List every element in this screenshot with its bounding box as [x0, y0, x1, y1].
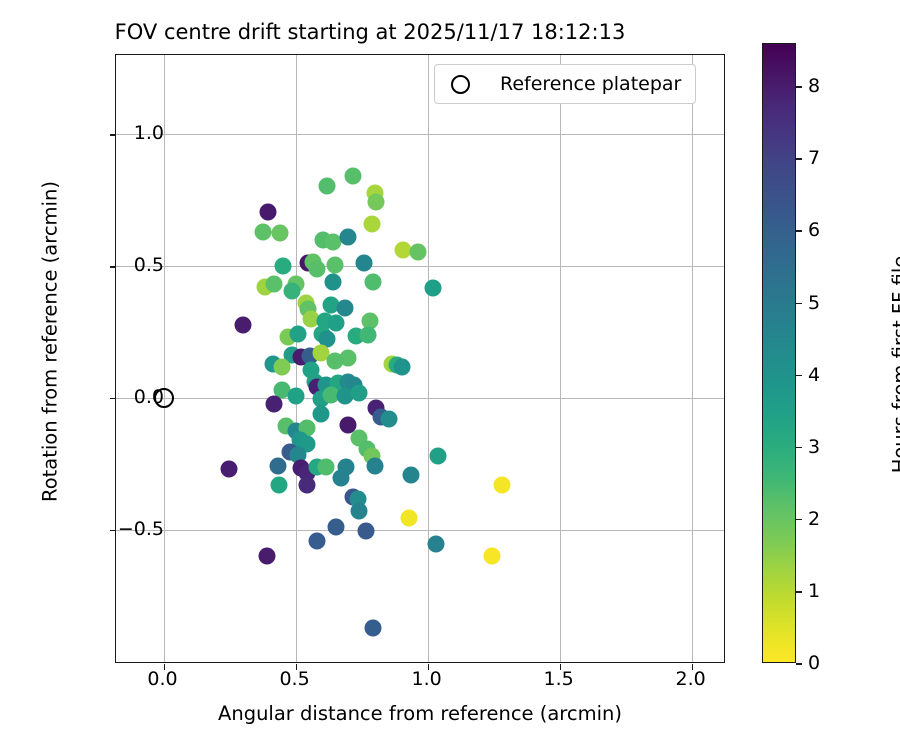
scatter-point [493, 476, 510, 493]
colorbar-gradient [762, 43, 796, 663]
scatter-point [269, 458, 286, 475]
scatter-point [427, 535, 444, 552]
x-tick-label: 1.0 [411, 668, 441, 690]
y-gridline [116, 266, 724, 267]
colorbar-tick-label: 8 [808, 75, 820, 97]
scatter-point [332, 470, 349, 487]
x-tick-label: 2.0 [676, 668, 706, 690]
scatter-point [273, 359, 290, 376]
colorbar-tick [796, 86, 802, 88]
scatter-point [345, 167, 362, 184]
colorbar-tick [796, 591, 802, 593]
scatter-point [366, 458, 383, 475]
colorbar-tick [796, 375, 802, 377]
legend: Reference platepar [434, 64, 696, 104]
y-gridline [116, 530, 724, 531]
scatter-point [266, 275, 283, 292]
scatter-point [430, 448, 447, 465]
scatter-point [328, 314, 345, 331]
colorbar-tick [796, 447, 802, 449]
y-tick [110, 134, 116, 136]
y-tick-label: 0.0 [134, 386, 164, 408]
scatter-point [360, 326, 377, 343]
y-tick-label: 1.0 [134, 122, 164, 144]
colorbar-tick [796, 519, 802, 521]
colorbar-label: Hours from first FF file [889, 165, 900, 565]
y-axis-label: Rotation from reference (arcmin) [39, 62, 62, 622]
scatter-point [259, 204, 276, 221]
x-axis-label: Angular distance from reference (arcmin) [115, 702, 725, 725]
scatter-point [265, 395, 282, 412]
scatter-point [312, 405, 329, 422]
scatter-point [364, 215, 381, 232]
chart-title: FOV centre drift starting at 2025/11/17 … [0, 20, 740, 44]
scatter-point [393, 358, 410, 375]
colorbar-tick-label: 6 [808, 219, 820, 241]
scatter-point [365, 620, 382, 637]
scatter-point [328, 518, 345, 535]
x-tick-label: 0.5 [279, 668, 309, 690]
y-tick [110, 398, 116, 400]
scatter-point [317, 458, 334, 475]
scatter-point [367, 194, 384, 211]
x-gridline [560, 55, 561, 662]
scatter-point [356, 255, 373, 272]
scatter-point [364, 273, 381, 290]
scatter-point [324, 273, 341, 290]
scatter-point [350, 384, 367, 401]
y-tick-label: −0.5 [118, 518, 164, 540]
colorbar-tick-label: 5 [808, 292, 820, 314]
y-gridline [116, 398, 724, 399]
scatter-point [424, 279, 441, 296]
scatter-point [350, 503, 367, 520]
scatter-point [484, 548, 501, 565]
colorbar-tick-label: 4 [808, 364, 820, 386]
colorbar-tick-label: 3 [808, 436, 820, 458]
colorbar-tick [796, 663, 802, 665]
scatter-point [357, 522, 374, 539]
scatter-point [271, 224, 288, 241]
colorbar-tick [796, 303, 802, 305]
chart-figure: FOV centre drift starting at 2025/11/17 … [0, 0, 900, 750]
colorbar-tick-label: 7 [808, 147, 820, 169]
scatter-point [340, 229, 357, 246]
scatter-point [254, 224, 271, 241]
scatter-point [271, 476, 288, 493]
scatter-point [308, 533, 325, 550]
y-tick [110, 530, 116, 532]
colorbar-tick [796, 158, 802, 160]
x-gridline [428, 55, 429, 662]
scatter-point [290, 325, 307, 342]
scatter-point [234, 317, 251, 334]
scatter-point [287, 387, 304, 404]
scatter-point [324, 233, 341, 250]
scatter-point [409, 244, 426, 261]
y-tick [110, 266, 116, 268]
colorbar-tick-label: 2 [808, 508, 820, 530]
y-gridline [116, 134, 724, 135]
x-tick-label: 1.5 [544, 668, 574, 690]
scatter-point [299, 476, 316, 493]
scatter-point [327, 257, 344, 274]
y-tick-label: 0.5 [134, 254, 164, 276]
reference-platepar-marker-icon [451, 75, 470, 94]
scatter-point [308, 261, 325, 278]
scatter-point [258, 547, 275, 564]
scatter-point [401, 510, 418, 527]
x-gridline [164, 55, 165, 662]
colorbar-tick-label: 1 [808, 580, 820, 602]
scatter-point [319, 177, 336, 194]
scatter-point [327, 352, 344, 369]
colorbar-tick-label: 0 [808, 652, 820, 674]
legend-label: Reference platepar [500, 73, 681, 95]
scatter-point [381, 411, 398, 428]
x-gridline [692, 55, 693, 662]
colorbar-tick [796, 230, 802, 232]
colorbar: 012345678 [762, 43, 796, 663]
plot-area [115, 54, 725, 663]
scatter-point [221, 461, 238, 478]
scatter-point [403, 466, 420, 483]
x-tick-label: 0.0 [147, 668, 177, 690]
scatter-point [274, 257, 291, 274]
